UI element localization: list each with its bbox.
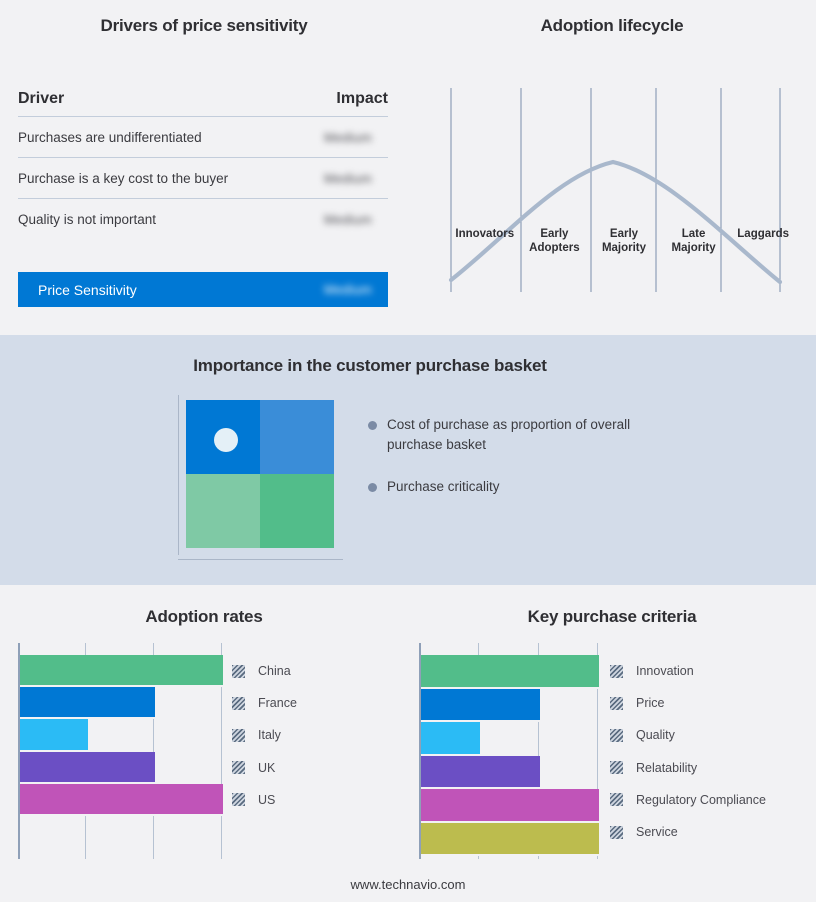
legend-label: US [258,793,275,807]
legend-item[interactable]: China [232,655,297,687]
bar-row [421,756,599,790]
price-sensitivity-summary-bar: Price Sensitivity Medium [18,272,388,307]
adoption-rates-panel: Adoption rates ChinaFranceItalyUKUS [0,585,408,902]
matrix-grid [186,400,334,548]
quadrant-bottom-left [186,474,260,548]
matrix-x-axis [178,559,343,560]
drivers-table: Driver Impact Purchases are undifferenti… [18,90,388,240]
bottom-band: Adoption rates ChinaFranceItalyUKUS Key … [0,585,816,902]
bar [20,687,155,719]
column-header-impact: Impact [336,90,388,108]
table-row: Purchases are undifferentiated Medium [18,117,388,158]
bar-row [20,687,223,719]
hatched-square-icon [610,761,623,774]
bar [421,823,599,857]
impact-value-redacted: Medium [324,130,388,145]
basket-legend: Cost of purchase as proportion of overal… [368,415,668,519]
legend-label: Innovation [636,664,694,678]
lifecycle-stage-labels: Innovators Early Adopters Early Majority… [450,228,798,255]
drivers-panel: Drivers of price sensitivity Driver Impa… [0,0,408,335]
bar-row [421,689,599,723]
hatched-square-icon [232,697,245,710]
matrix-y-axis [178,395,179,555]
hatched-square-icon [610,826,623,839]
legend-label: Cost of purchase as proportion of overal… [387,415,649,455]
hatched-square-icon [232,761,245,774]
legend-item[interactable]: Price [610,687,766,719]
lifecycle-chart: Innovators Early Adopters Early Majority… [428,70,803,310]
table-header-row: Driver Impact [18,90,388,117]
bar [421,789,599,823]
purchase-basket-band: Importance in the customer purchase bask… [0,335,816,585]
bar [421,689,540,723]
legend-label: Regulatory Compliance [636,793,766,807]
bar-row [20,784,223,816]
bar-row [20,655,223,687]
bar [421,722,480,756]
driver-label: Quality is not important [18,212,156,227]
legend-item[interactable]: US [232,784,297,816]
impact-value-redacted: Medium [324,212,388,227]
price-sensitivity-impact-redacted: Medium [324,282,388,297]
legend-label: Purchase criticality [387,477,500,497]
bars-container [421,655,599,856]
legend-label: China [258,664,291,678]
driver-label: Purchases are undifferentiated [18,130,202,145]
hatched-square-icon [232,793,245,806]
legend-label: Quality [636,728,675,742]
bar [20,752,155,784]
position-dot-icon [214,428,238,452]
column-header-driver: Driver [18,90,64,108]
legend-label: Price [636,696,664,710]
adoption-rates-title: Adoption rates [0,607,408,627]
hatched-square-icon [232,729,245,742]
lifecycle-stage-early-majority: Early Majority [589,228,659,255]
legend-label: Italy [258,728,281,742]
lifecycle-title: Adoption lifecycle [408,16,816,36]
footer-url: www.technavio.com [0,877,816,892]
bar [421,756,540,790]
bullet-dot-icon [368,421,377,430]
bar [20,719,88,751]
bar-row [421,823,599,857]
legend-item[interactable]: Innovation [610,655,766,687]
legend-item[interactable]: Regulatory Compliance [610,784,766,816]
bar [421,655,599,689]
legend-label: UK [258,761,275,775]
driver-label: Purchase is a key cost to the buyer [18,171,228,186]
legend-label: France [258,696,297,710]
table-row: Purchase is a key cost to the buyer Medi… [18,158,388,199]
legend-item[interactable]: Service [610,816,766,848]
key-criteria-legend: InnovationPriceQualityRelatabilityRegula… [610,655,766,848]
quadrant-top-right [260,400,334,474]
adoption-rates-plot [18,643,223,859]
legend-item[interactable]: Relatability [610,752,766,784]
bars-container [20,655,223,816]
lifecycle-panel: Adoption lifecycle Innovators Early Adop… [408,0,816,335]
top-band: Drivers of price sensitivity Driver Impa… [0,0,816,335]
lifecycle-stage-innovators: Innovators [450,228,520,255]
legend-item[interactable]: UK [232,752,297,784]
adoption-rates-legend: ChinaFranceItalyUKUS [232,655,297,816]
lifecycle-stage-late-majority: Late Majority [659,228,729,255]
legend-item[interactable]: Italy [232,719,297,751]
lifecycle-stage-early-adopters: Early Adopters [520,228,590,255]
legend-label: Service [636,825,678,839]
bar-row [421,789,599,823]
bar [20,655,223,687]
legend-item: Cost of purchase as proportion of overal… [368,415,668,455]
hatched-square-icon [610,729,623,742]
hatched-square-icon [610,665,623,678]
adoption-bell-curve [451,162,780,282]
hatched-square-icon [610,793,623,806]
key-criteria-panel: Key purchase criteria InnovationPriceQua… [408,585,816,902]
bar-row [20,719,223,751]
hatched-square-icon [610,697,623,710]
hatched-square-icon [232,665,245,678]
lifecycle-stage-laggards: Laggards [728,228,798,255]
legend-label: Relatability [636,761,697,775]
drivers-title: Drivers of price sensitivity [0,16,408,36]
legend-item: Purchase criticality [368,477,668,497]
impact-value-redacted: Medium [324,171,388,186]
table-row: Quality is not important Medium [18,199,388,240]
quadrant-matrix [178,395,343,560]
quadrant-top-left [186,400,260,474]
lifecycle-dividers [451,88,780,292]
bullet-dot-icon [368,483,377,492]
basket-title: Importance in the customer purchase bask… [0,356,740,376]
quadrant-bottom-right [260,474,334,548]
legend-item[interactable]: France [232,687,297,719]
key-criteria-plot [419,643,599,859]
bar-row [421,722,599,756]
bar [20,784,223,816]
bar-row [421,655,599,689]
key-criteria-title: Key purchase criteria [408,607,816,627]
price-sensitivity-label: Price Sensitivity [18,282,137,298]
lifecycle-curve-svg [428,70,803,310]
bar-row [20,752,223,784]
legend-item[interactable]: Quality [610,719,766,751]
